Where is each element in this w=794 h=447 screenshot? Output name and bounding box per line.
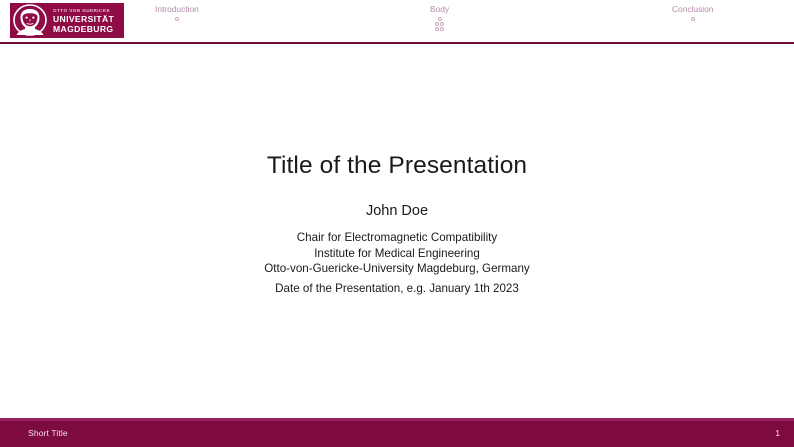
mini-frame-dot[interactable] xyxy=(435,22,439,26)
footer-short-title: Short Title xyxy=(28,428,68,438)
affiliation-line-3: Otto-von-Guericke-University Magdeburg, … xyxy=(0,261,794,277)
affiliation-line-1: Chair for Electromagnetic Compatibility xyxy=(0,230,794,246)
title-page-content: Title of the Presentation John Doe Chair… xyxy=(0,44,794,418)
mini-frames-body xyxy=(435,17,444,31)
mini-frames-conclusion xyxy=(691,17,695,21)
mini-frame-dot[interactable] xyxy=(435,27,439,31)
nav-section-introduction[interactable]: Introduction xyxy=(155,4,199,21)
nav-section-body[interactable]: Body xyxy=(430,4,449,31)
mini-frames-introduction xyxy=(175,17,179,21)
mini-frame-dot[interactable] xyxy=(440,22,444,26)
footer-page-number: 1 xyxy=(775,428,780,438)
logo-line-magdeburg: MAGDEBURG xyxy=(53,24,124,34)
section-navigation: Introduction Body Conclusion xyxy=(130,0,794,43)
slide-footer: Short Title 1 xyxy=(0,421,794,447)
nav-label-conclusion: Conclusion xyxy=(672,4,713,15)
mini-frame-dot[interactable] xyxy=(691,17,695,21)
nav-section-conclusion[interactable]: Conclusion xyxy=(672,4,713,21)
presentation-slide: OTTO VON GUERICKE UNIVERSITÄT MAGDEBURG … xyxy=(0,0,794,447)
university-logo: OTTO VON GUERICKE UNIVERSITÄT MAGDEBURG xyxy=(9,2,125,39)
nav-label-introduction: Introduction xyxy=(155,4,199,15)
author-name: John Doe xyxy=(0,203,794,219)
logo-line-universitaet: UNIVERSITÄT xyxy=(53,14,124,24)
mini-frame-dot[interactable] xyxy=(440,27,444,31)
mini-frame-dot[interactable] xyxy=(175,17,179,21)
presentation-date: Date of the Presentation, e.g. January 1… xyxy=(0,282,794,295)
affiliation-line-2: Institute for Medical Engineering xyxy=(0,246,794,262)
nav-label-body: Body xyxy=(430,4,449,15)
mini-frame-dot[interactable] xyxy=(438,17,442,21)
page-title: Title of the Presentation xyxy=(0,152,794,180)
guericke-portrait-icon xyxy=(10,3,50,38)
slide-header: OTTO VON GUERICKE UNIVERSITÄT MAGDEBURG … xyxy=(0,0,794,43)
affiliation-block: Chair for Electromagnetic Compatibility … xyxy=(0,230,794,277)
logo-wordmark: OTTO VON GUERICKE UNIVERSITÄT MAGDEBURG xyxy=(50,3,124,38)
